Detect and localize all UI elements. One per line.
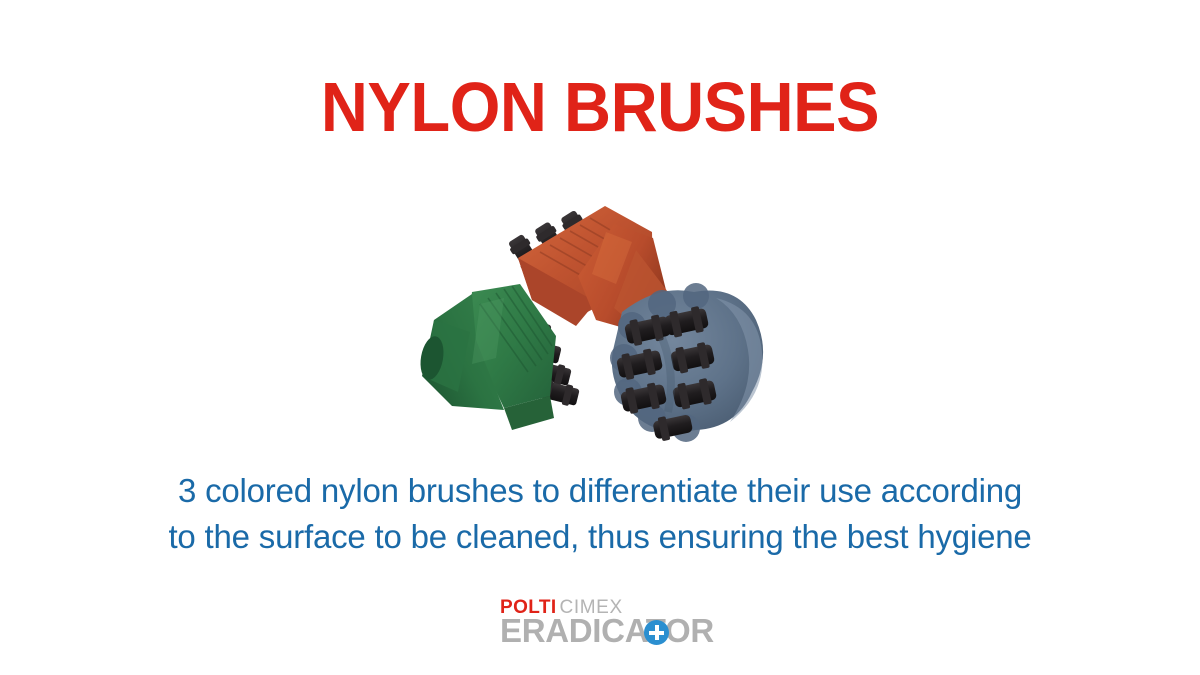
- plus-cross-icon: [644, 620, 669, 645]
- caption-line-2: to the surface to be cleaned, thus ensur…: [50, 514, 1150, 560]
- brand-logo: POLTI CIMEX ERADICATOR: [500, 598, 705, 650]
- caption-line-1: 3 colored nylon brushes to differentiate…: [50, 468, 1150, 514]
- blue-grey-nylon-brush: [610, 283, 763, 443]
- logo-eradicator-wordmark: ERADICATOR: [500, 612, 714, 649]
- slide-canvas: NYLON BRUSHES: [0, 0, 1200, 675]
- product-image-group: [400, 180, 800, 450]
- caption-text: 3 colored nylon brushes to differentiate…: [50, 468, 1150, 560]
- logo-bottom-row: ERADICATOR: [500, 614, 714, 648]
- plus-cross-vertical-bar: [655, 625, 659, 640]
- page-title: NYLON BRUSHES: [42, 72, 1158, 142]
